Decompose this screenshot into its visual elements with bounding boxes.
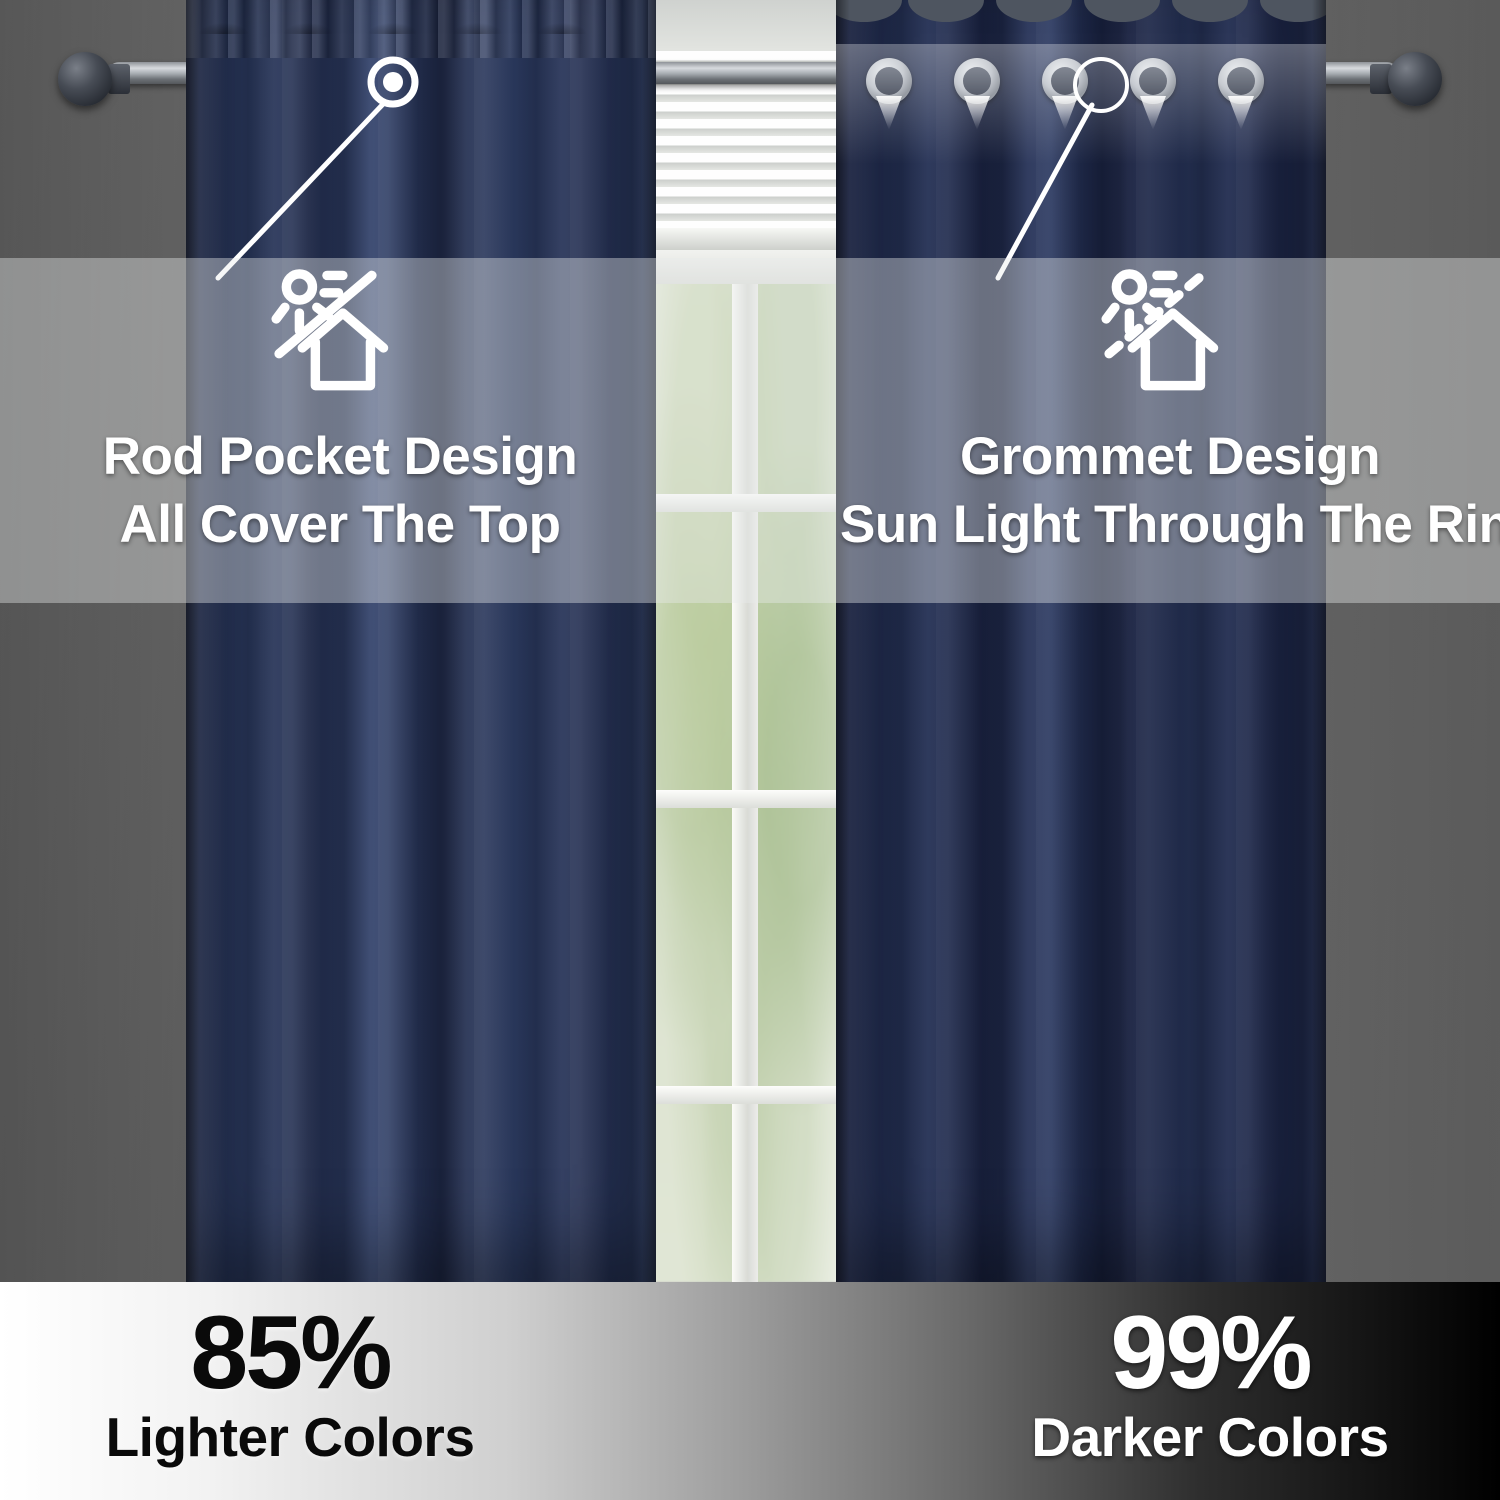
stat-darker-colors: 99% Darker Colors bbox=[960, 1304, 1460, 1467]
window bbox=[638, 0, 852, 1282]
scallop bbox=[996, 0, 1072, 22]
stat-value: 99% bbox=[960, 1304, 1460, 1403]
blackout-stats-bar: 85% Lighter Colors 99% Darker Colors bbox=[0, 1282, 1500, 1500]
stat-label: Lighter Colors bbox=[40, 1409, 540, 1467]
scallop bbox=[1084, 0, 1160, 22]
window-mullion-h3 bbox=[646, 790, 844, 808]
callout-grommet bbox=[880, 50, 1220, 290]
feature-subtitle: All Cover The Top bbox=[60, 497, 620, 553]
scallop bbox=[908, 0, 984, 22]
feature-title: Rod Pocket Design bbox=[60, 429, 620, 485]
wall-shadow-right bbox=[1300, 0, 1500, 1290]
sun-blocked-house-icon bbox=[265, 258, 415, 403]
grommet-hole bbox=[1227, 67, 1255, 95]
feature-grommet: Grommet Design Sun Light Through The Rin… bbox=[840, 258, 1500, 553]
window-mullion-h4 bbox=[646, 1086, 844, 1104]
panel-right-right-shadow bbox=[1312, 0, 1326, 1282]
panel-left-right-shadow bbox=[642, 0, 656, 1282]
callout-rod-pocket bbox=[100, 50, 440, 290]
feature-subtitle: Sun Light Through The Ring bbox=[840, 497, 1500, 553]
rod-finial-right bbox=[1388, 52, 1442, 106]
stat-label: Darker Colors bbox=[960, 1409, 1460, 1467]
stat-lighter-colors: 85% Lighter Colors bbox=[40, 1304, 540, 1467]
feature-title: Grommet Design bbox=[840, 429, 1500, 485]
sun-through-house-icon bbox=[1095, 258, 1245, 403]
rod-pocket-ruffle bbox=[186, 0, 656, 34]
roman-shade bbox=[638, 0, 852, 228]
feature-rod-pocket: Rod Pocket Design All Cover The Top bbox=[60, 258, 620, 553]
stat-value: 85% bbox=[40, 1304, 540, 1403]
window-sill bbox=[638, 228, 852, 250]
grommet-scallop-row bbox=[836, 0, 1326, 36]
scallop bbox=[1172, 0, 1248, 22]
product-infographic: Rod Pocket Design All Cover The Top Grom… bbox=[0, 0, 1500, 1500]
panel-right-edge-shadow bbox=[836, 0, 850, 1282]
roman-shade-header bbox=[638, 0, 852, 50]
